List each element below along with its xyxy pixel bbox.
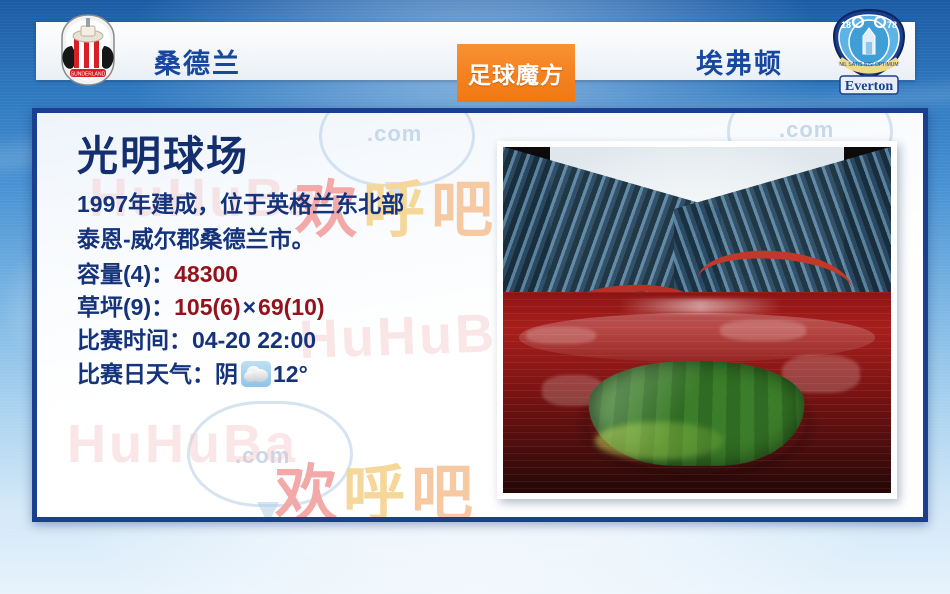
- everton-year-left: 18: [841, 20, 851, 30]
- capacity-label: 容量(4)：: [77, 258, 174, 291]
- svg-text:NIL SATIS NISI OPTIMUM: NIL SATIS NISI OPTIMUM: [839, 62, 898, 68]
- stadium-description-line1: 1997年建成，位于英格兰东北部: [77, 188, 497, 221]
- cloudy-icon: [241, 361, 271, 387]
- stadium-info-text: 光明球场 1997年建成，位于英格兰东北部 泰恩-威尔郡桑德兰市。 容量(4)：…: [77, 135, 497, 391]
- capacity-row: 容量(4)： 48300: [77, 258, 497, 291]
- kickoff-value: 04-20 22:00: [192, 324, 316, 357]
- stadium-description-line2: 泰恩-威尔郡桑德兰市。: [77, 223, 497, 256]
- pitch-row: 草坪(9)： 105(6) × 69(10): [77, 291, 497, 324]
- weather-temperature: 12°: [273, 358, 308, 391]
- kickoff-row: 比赛时间： 04-20 22:00: [77, 324, 497, 357]
- kickoff-label: 比赛时间：: [77, 324, 192, 357]
- svg-text:Everton: Everton: [845, 79, 893, 94]
- site-logo-label: 足球魔方: [468, 56, 564, 90]
- svg-text:SUNDERLAND: SUNDERLAND: [71, 72, 106, 78]
- weather-condition: 阴: [215, 358, 238, 391]
- capacity-value: 48300: [174, 258, 238, 291]
- match-stadium-card: 桑德兰 埃弗顿 足球魔方 SUNDERLAND: [0, 0, 950, 594]
- pitch-width: 69(10): [258, 291, 324, 324]
- stadium-photo-image: [503, 147, 891, 493]
- stadium-title: 光明球场: [77, 135, 497, 178]
- pitch-label: 草坪(9)：: [77, 291, 174, 324]
- watermark-domain: .com: [779, 117, 834, 143]
- stadium-info-panel: .com .com .com HuHuBa HuHuBa HuHuBa 欢呼吧 …: [32, 108, 928, 522]
- everton-crest: 18 78 NIL SATIS NISI OPTIMUM Everton: [820, 6, 918, 98]
- watermark-domain: .com: [235, 443, 290, 469]
- away-team-name: 埃弗顿: [696, 42, 783, 81]
- stadium-photo: [497, 141, 897, 499]
- match-header-bar: 桑德兰 埃弗顿 足球魔方: [36, 22, 915, 80]
- sunderland-crest: SUNDERLAND: [50, 12, 126, 88]
- weather-row: 比赛日天气： 阴 12°: [77, 358, 497, 391]
- weather-label: 比赛日天气：: [77, 358, 215, 391]
- pitch-separator: ×: [243, 291, 256, 324]
- pitch-length: 105(6): [174, 291, 240, 324]
- home-team-name: 桑德兰: [154, 42, 241, 81]
- everton-year-right: 78: [887, 20, 897, 30]
- site-logo[interactable]: 足球魔方: [457, 44, 575, 102]
